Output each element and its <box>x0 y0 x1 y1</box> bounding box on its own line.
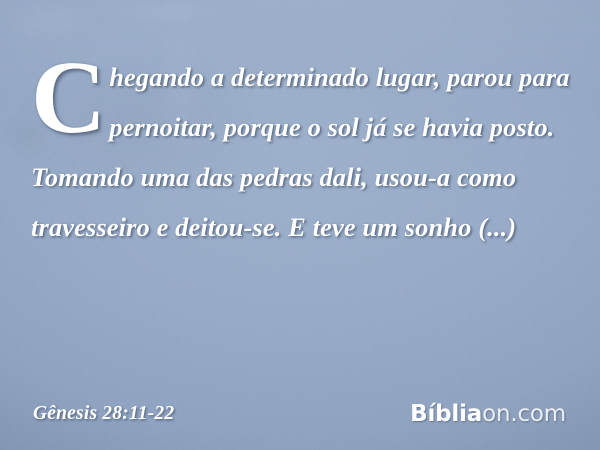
verse-text-block: Chegando a determinado lugar, parou para… <box>31 52 573 252</box>
verse-dropcap-letter: C <box>31 52 109 139</box>
card-footer: Gênesis 28:11-22 Bíbliaon.com <box>0 384 600 450</box>
bibliaon-logo[interactable]: Bíbliaon.com <box>410 403 566 426</box>
logo-text-secondary: on.com <box>482 401 566 427</box>
bible-reference: Gênesis 28:11-22 <box>33 403 174 425</box>
verse-image-card: Chegando a determinado lugar, parou para… <box>0 0 600 450</box>
logo-text-primary: Bíblia <box>410 401 482 427</box>
verse-text: hegando a determinado lugar, parou para … <box>31 62 570 242</box>
